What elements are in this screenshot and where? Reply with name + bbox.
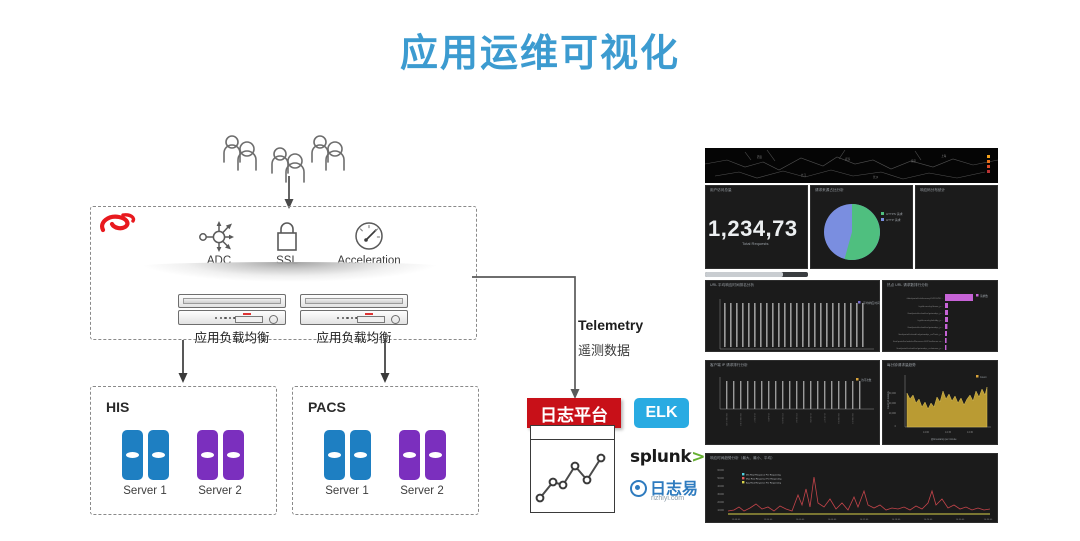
svg-text:HTTP 请求: HTTP 请求 [886,217,901,222]
panel-title: 客户端 IP 请求排行分析 [710,363,748,368]
appliance-1-label: 应用负载均衡 [178,327,286,346]
svg-text:/feat/portal/cn/web/cn/getnode: /feat/portal/cn/web/cn/getnodejs_js... [907,326,943,329]
total-requests-value: 1,234,73 [708,216,798,242]
splunk-logo: splunk> [630,447,705,467]
response-time-line-chart: 6000050000 4000030000 2000010000 Min Rea… [706,461,999,523]
panel-url-response-bars[interactable]: URL 平均响应时间排名分析 [705,280,880,352]
svg-text:14:24:00: 14:24:00 [924,519,933,521]
pacs-server-2-label: Server 2 [394,485,450,497]
svg-text:20000: 20000 [717,501,724,504]
svg-text:14:30:00: 14:30:00 [956,519,965,521]
svg-text:14:00:00: 14:00:00 [796,519,805,521]
elk-button[interactable]: ELK [634,398,689,428]
appliance-indicator [365,313,373,315]
log-platform-button[interactable]: 日志平台 [527,398,621,428]
vertical-bars-chart: 平均响应时间 [706,289,881,353]
adc-to-his-arrow [174,340,192,384]
his-server-1-label: Server 1 [117,485,173,497]
pacs-server-2: Server 2 [394,430,450,497]
svg-text:192.168.5.9: 192.168.5.9 [837,413,839,424]
svg-text:/cgi/dcserv/cgi/whfdtp_js...: /cgi/dcserv/cgi/whfdtp_js... [917,319,943,322]
app-group-pacs-title: PACS [308,399,346,415]
svg-text:Count: Count [980,376,987,379]
svg-text:192.168.1.101: 192.168.1.101 [725,413,727,427]
svg-text:172.16.9.4: 172.16.9.4 [795,413,797,423]
svg-text:10000: 10000 [717,509,724,512]
panel-pie[interactable]: 请求来源占比分析 HTTPS 请求 HTTP 请求 [810,185,913,269]
panel-title: 每分钟请求量趋势 [887,363,916,368]
slide-canvas: 应用运维可视化 [0,0,1080,541]
server-blade [197,430,218,480]
svg-text:西安: 西安 [757,155,763,159]
chart-card-header [531,426,614,440]
server-blade [399,430,420,480]
appliance-indicator [243,313,251,315]
svg-text:Count of records: Count of records [887,391,890,409]
svg-text:访问次数: 访问次数 [861,378,872,382]
svg-text:13:54:00: 13:54:00 [764,519,773,521]
appliance-knob [269,315,278,324]
client-bars-chart: 192.168.1.101192.168.1.112 10.2.33.1710.… [706,369,881,446]
svg-text:Max Real Response Per Requesti: Max Real Response Per Requesting [746,477,782,480]
total-requests-sublabel: Total Requests [742,241,768,246]
svg-text:14:06:00: 14:06:00 [828,519,837,521]
his-server-2: Server 2 [192,430,248,497]
svg-text:13:48:00: 13:48:00 [732,519,741,521]
load-balancer-icon [198,219,240,253]
splunk-arrow: > [691,447,705,467]
panel-client-ip-bars[interactable]: 客户端 IP 请求排行分析 192 [705,360,880,445]
panel-title: 响应码分布统计 [920,188,945,193]
svg-text:50000: 50000 [717,477,724,480]
svg-text:40000: 40000 [717,485,724,488]
appliance-slot [235,316,263,323]
page-title: 应用运维可视化 [0,22,1080,77]
feature-acceleration: Acceleration [325,219,413,267]
svg-text:@timestamp per minute: @timestamp per minute [931,438,957,441]
svg-text:0: 0 [895,425,897,428]
svg-text:长沙: 长沙 [873,175,879,179]
his-server-1: Server 1 [117,430,173,497]
dashboard-map-panel[interactable]: 九江武汉 南京上海 长沙西安 [705,148,998,183]
horizontal-bars-chart: /data/portal/cn/discovery/%25%7B#... /cg… [883,289,999,353]
svg-text:14:36:00: 14:36:00 [984,519,993,521]
panel-response-time-trend[interactable]: 响应时间趋势分析（最大、最小、平均） 6000050000 4000030000… [705,453,998,523]
appliance-knob [391,315,400,324]
rizhiyi-domain: rizhiyi.com [651,495,684,502]
appliance-slot [357,316,385,323]
svg-text:172.16.8.21: 172.16.8.21 [781,413,783,424]
svg-text:Min Real Response Per Requesti: Min Real Response Per Requesting [746,473,782,476]
svg-text:Avg Real Response Per Requesti: Avg Real Response Per Requesting [746,481,782,484]
server-blade [350,430,371,480]
svg-text:平均响应时间: 平均响应时间 [863,301,880,305]
svg-text:192.168.6.3: 192.168.6.3 [851,413,853,424]
svg-text:/feat/portal/cn/web/cn/getnode: /feat/portal/cn/web/cn/getnodejs_cn/wino… [896,347,943,350]
app-group-his-title: HIS [106,399,129,415]
feature-adc: ADC [191,219,247,267]
svg-text:30000: 30000 [717,493,724,496]
svg-text:/cgi/dcserv/cgi/home_js...: /cgi/dcserv/cgi/home_js... [918,305,943,308]
svg-text:/data/portal/cn/discovery/%25%: /data/portal/cn/discovery/%25%7B#... [907,297,944,300]
users-to-adc-arrow [280,176,298,210]
svg-text:上海: 上海 [941,154,947,158]
rizhiyi-mark-icon [630,480,647,497]
svg-text:14:30: 14:30 [967,431,974,434]
telemetry-connector [470,270,585,402]
svg-text:南京: 南京 [911,159,917,163]
panel-response-codes[interactable]: 响应码分布统计 [915,185,998,269]
svg-text:10.2.44.9: 10.2.44.9 [767,413,769,422]
rizhiyi-logo: 日志易 rizhiyi.com [630,480,698,497]
svg-text:14:12:00: 14:12:00 [860,519,869,521]
server-blade [148,430,169,480]
svg-text:武汉: 武汉 [845,157,851,161]
splunk-label: splunk [630,447,691,467]
pacs-server-1-label: Server 1 [319,485,375,497]
pie-chart: HTTPS 请求 HTTP 请求 [811,192,914,270]
svg-text:10.10.2.56: 10.10.2.56 [809,413,811,423]
map-legend [987,155,990,173]
panel-title: 用户访问总量 [710,188,732,193]
radware-logo [95,208,139,242]
server-blade [324,430,345,480]
svg-text:HTTPS 请求: HTTPS 请求 [886,211,903,216]
panel-total-requests[interactable]: 用户访问总量 1,234,73 Total Requests [705,185,808,269]
map-graphic: 九江武汉 南京上海 长沙西安 [705,148,998,183]
appliance-leds [337,317,358,319]
telemetry-label-cn: 遥测数据 [578,340,630,359]
padlock-icon [273,219,301,253]
svg-text:九江: 九江 [801,173,807,177]
telemetry-label-en: Telemetry [578,317,643,333]
appliance-leds [215,317,236,319]
speedometer-icon [352,219,386,253]
log-platform-chart-card [530,425,615,513]
svg-text:10.2.33.17: 10.2.33.17 [753,413,755,423]
svg-text:10.10.3.77: 10.10.3.77 [823,413,825,423]
log-analytics-dashboard[interactable]: 九江武汉 南京上海 长沙西安 用户访问总量 1,234,73 Total Req… [705,148,998,523]
panel-title: 热点 URL 请求数排行分析 [887,283,928,288]
server-blade [223,430,244,480]
svg-text:/feat/portal/cn/web/cn/Resourc: /feat/portal/cn/web/cn/Resource.BCP/onSe… [893,340,943,343]
panel-top-urls[interactable]: 热点 URL 请求数排行分析 /data/portal/cn/discovery… [882,280,998,352]
svg-text:请求数: 请求数 [980,294,988,298]
svg-text:14:18:00: 14:18:00 [892,519,901,521]
svg-text:14:00: 14:00 [923,431,930,434]
panel-title: URL 平均响应时间排名分析 [710,283,754,288]
feature-ssl: SSL [262,219,312,267]
area-chart: 30,000 20,000 10,000 0 14:0014:1514:30 @… [883,369,999,446]
server-blade [122,430,143,480]
svg-text:/feat/portal/cn/web/cn/getnode: /feat/portal/cn/web/cn/getnodejs_cn/Tool… [898,333,943,336]
svg-text:14:15: 14:15 [945,431,952,434]
svg-text:10,000: 10,000 [889,412,897,415]
svg-text:192.168.1.112: 192.168.1.112 [739,413,741,427]
panel-requests-per-minute[interactable]: 每分钟请求量趋势 30,000 20,000 10,000 0 14:0014:… [882,360,998,445]
server-blade [425,430,446,480]
line-chart-icon [531,440,613,512]
dashboard-scrollbar[interactable] [705,272,808,277]
adc-to-pacs-arrow [376,340,394,384]
appliance-1: 应用负载均衡 [178,294,286,346]
svg-text:60000: 60000 [717,469,724,472]
svg-text:/feat/portal/cn/web/cn/getnode: /feat/portal/cn/web/cn/getnodejs_js... [907,312,943,315]
his-server-2-label: Server 2 [192,485,248,497]
pacs-server-1: Server 1 [319,430,375,497]
appliance-2: 应用负载均衡 [300,294,408,346]
